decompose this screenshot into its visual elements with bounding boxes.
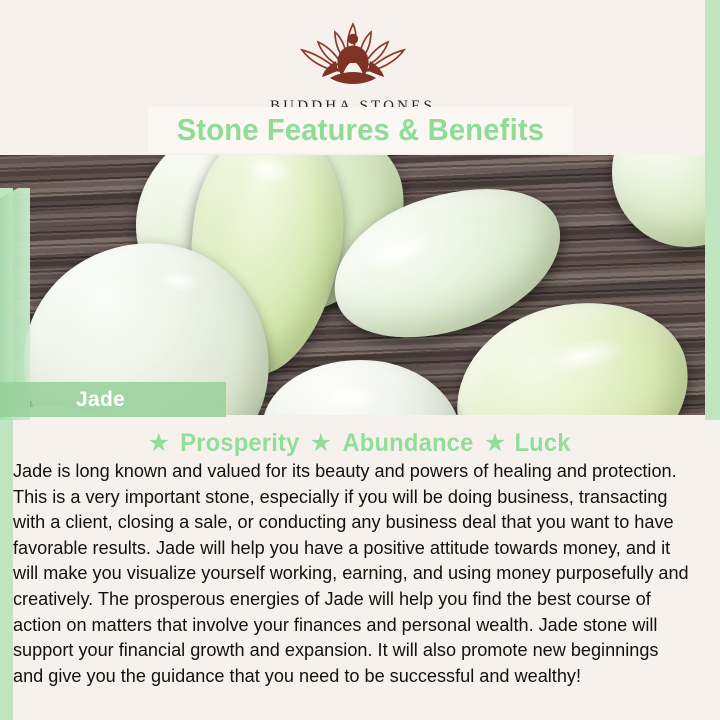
stone-name-text: Jade xyxy=(76,388,125,412)
stone-name-label: Jade xyxy=(0,382,226,417)
stone-description: Jade is long known and valued for its be… xyxy=(13,458,700,688)
keyword-abundance: Abundance xyxy=(342,429,473,458)
keyword-luck: Luck xyxy=(515,429,571,458)
stone-highlight xyxy=(154,267,202,294)
stone-highlight xyxy=(539,332,627,379)
frame-accent-right xyxy=(705,0,720,420)
star-icon: ★ xyxy=(147,431,169,456)
star-icon: ★ xyxy=(484,431,506,456)
keyword-row: ★ Prosperity ★ Abundance ★ Luck xyxy=(0,429,720,458)
star-icon: ★ xyxy=(310,431,332,456)
page-title: Stone Features & Benefits xyxy=(177,112,544,148)
brand-logo-block: BUDDHA STONES xyxy=(0,16,705,115)
stone-highlight xyxy=(324,384,381,410)
lotus-meditation-icon xyxy=(278,16,428,94)
jade-stones-photo xyxy=(0,155,720,415)
keyword-prosperity: Prosperity xyxy=(180,429,299,458)
stone-highlight xyxy=(240,155,296,188)
stone-highlight xyxy=(360,229,438,276)
title-banner: Stone Features & Benefits xyxy=(148,107,573,153)
